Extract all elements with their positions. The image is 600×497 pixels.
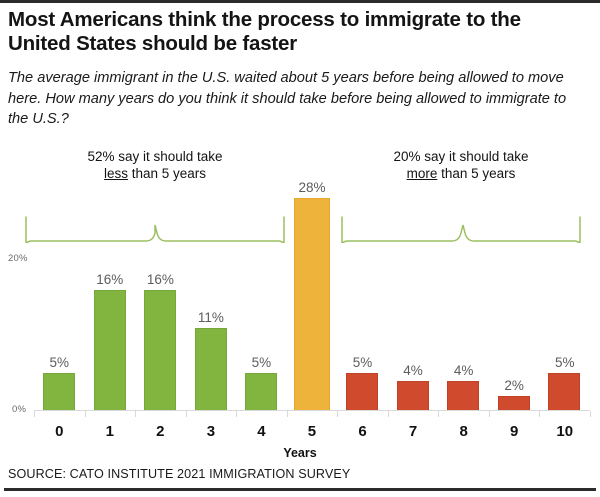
x-tick [135, 411, 136, 417]
x-category-0: 0 [34, 423, 85, 440]
x-tick [590, 411, 591, 417]
bar-slot: 2% [489, 140, 540, 411]
ytick-label-20: 20% [8, 253, 28, 264]
bar-4 [245, 373, 277, 411]
bar-slot: 5% [337, 140, 388, 411]
bar-slot: 5% [539, 140, 590, 411]
x-tick [287, 411, 288, 417]
x-category-9: 9 [489, 423, 540, 440]
bar-slot: 11% [186, 140, 237, 411]
source-note: SOURCE: CATO INSTITUTE 2021 IMMIGRATION … [8, 467, 350, 481]
bar-value-label-4: 5% [236, 355, 287, 370]
bar-5 [294, 198, 330, 411]
x-tick [34, 411, 35, 417]
x-category-4: 4 [236, 423, 287, 440]
bar-value-label-9: 2% [489, 378, 540, 393]
bar-1 [94, 290, 126, 411]
x-category-3: 3 [186, 423, 237, 440]
bar-6 [346, 373, 378, 411]
bar-9 [498, 396, 530, 411]
bar-value-label-5: 28% [287, 180, 338, 195]
bar-slot: 4% [388, 140, 439, 411]
bar-slot: 16% [85, 140, 136, 411]
x-axis-categories: 012345678910 [34, 423, 590, 447]
x-tick [186, 411, 187, 417]
x-axis-title: Years [0, 446, 600, 460]
x-tick [438, 411, 439, 417]
x-category-8: 8 [438, 423, 489, 440]
bar-series: 5%16%16%11%5%28%5%4%4%2%5% [34, 140, 590, 411]
bar-0 [43, 373, 75, 411]
bar-slot: 5% [34, 140, 85, 411]
bar-10 [548, 373, 580, 411]
x-category-6: 6 [337, 423, 388, 440]
x-tick [85, 411, 86, 417]
ytick-label-0: 0% [12, 404, 26, 415]
x-category-5: 5 [287, 423, 338, 440]
page-subtitle: The average immigrant in the U.S. waited… [8, 68, 586, 130]
x-tick [388, 411, 389, 417]
x-tick [489, 411, 490, 417]
x-category-2: 2 [135, 423, 186, 440]
bar-8 [447, 381, 479, 411]
bar-value-label-2: 16% [135, 272, 186, 287]
bar-slot: 4% [438, 140, 489, 411]
bar-slot: 28% [287, 140, 338, 411]
top-rule [0, 0, 600, 3]
bar-2 [144, 290, 176, 411]
x-tick [236, 411, 237, 417]
bar-value-label-6: 5% [337, 355, 388, 370]
x-axis-line [34, 410, 590, 411]
x-category-7: 7 [388, 423, 439, 440]
bar-3 [195, 328, 227, 412]
x-category-1: 1 [85, 423, 136, 440]
chart-area: 52% say it should take less than 5 years… [0, 140, 600, 440]
x-category-10: 10 [539, 423, 590, 440]
bar-value-label-10: 5% [539, 355, 590, 370]
bar-value-label-7: 4% [388, 363, 439, 378]
bar-value-label-3: 11% [186, 310, 237, 325]
page-title: Most Americans think the process to immi… [8, 8, 588, 56]
bar-7 [397, 381, 429, 411]
bar-slot: 16% [135, 140, 186, 411]
bar-value-label-8: 4% [438, 363, 489, 378]
bottom-rule [4, 488, 596, 491]
bar-value-label-1: 16% [85, 272, 136, 287]
bar-value-label-0: 5% [34, 355, 85, 370]
bar-slot: 5% [236, 140, 287, 411]
x-tick [539, 411, 540, 417]
x-tick [337, 411, 338, 417]
